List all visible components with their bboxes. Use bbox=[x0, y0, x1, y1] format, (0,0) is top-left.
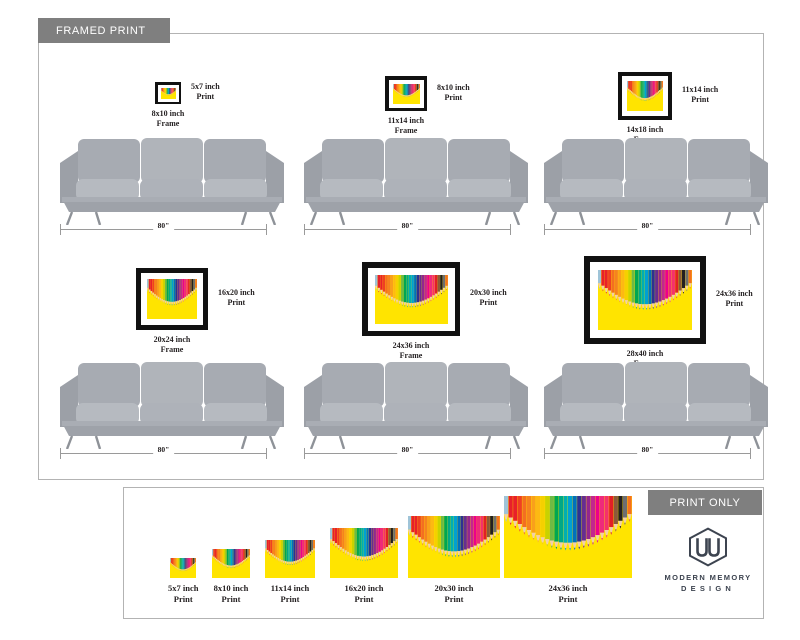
modern-memory-hexagon-icon bbox=[687, 527, 729, 567]
colored-pencils-artwork bbox=[393, 84, 420, 104]
frame-size-label: 8x10 inchFrame bbox=[128, 109, 208, 129]
sofa bbox=[540, 357, 770, 454]
sofa-dimension-label: 80" bbox=[637, 221, 659, 230]
print-size-label: 5x7 inchPrint bbox=[191, 82, 220, 102]
colored-pencils-artwork bbox=[212, 549, 250, 578]
sofa-illustration bbox=[540, 357, 770, 449]
print-only-size-label: 11x14 inchPrint bbox=[271, 583, 310, 604]
colored-pencils-artwork bbox=[265, 540, 315, 578]
print-size-label: 16x20 inchPrint bbox=[218, 288, 255, 308]
colored-pencils-artwork bbox=[161, 88, 176, 99]
frame-mat bbox=[389, 80, 424, 108]
print-only-item[interactable]: 11x14 inchPrint bbox=[265, 540, 315, 604]
print-only-item[interactable]: 8x10 inchPrint bbox=[212, 549, 250, 604]
sofa bbox=[300, 357, 530, 454]
colored-pencils-artwork bbox=[170, 558, 196, 578]
frame-size-label: 20x24 inchFrame bbox=[132, 335, 212, 355]
colored-pencils-artwork bbox=[627, 81, 663, 111]
colored-pencils-artwork bbox=[330, 528, 398, 578]
picture-frame bbox=[584, 256, 706, 344]
print-only-item[interactable]: 20x30 inchPrint bbox=[408, 516, 500, 604]
sofa-dimension-label: 80" bbox=[397, 221, 419, 230]
sofa-dimension-line: 80" bbox=[60, 446, 267, 460]
sofa-illustration bbox=[300, 133, 530, 225]
sofa-dimension-line: 80" bbox=[544, 222, 751, 236]
picture-frame bbox=[618, 72, 672, 120]
print-size-label: 20x30 inchPrint bbox=[470, 288, 507, 308]
sofa bbox=[300, 133, 530, 230]
colored-pencils-artwork bbox=[408, 516, 500, 578]
print-only-size-label: 20x30 inchPrint bbox=[435, 583, 474, 604]
picture-frame bbox=[155, 82, 181, 104]
sofa-dimension-line: 80" bbox=[304, 222, 511, 236]
colored-pencils-artwork bbox=[375, 275, 448, 324]
print-only-size-label: 5x7 inchPrint bbox=[168, 583, 198, 604]
sofa-dimension-label: 80" bbox=[397, 445, 419, 454]
sofa-illustration bbox=[540, 133, 770, 225]
picture-frame bbox=[136, 268, 208, 330]
brand-name-line2: DESIGN bbox=[681, 584, 735, 593]
sofa-dimension-label: 80" bbox=[153, 445, 175, 454]
frame-mat bbox=[141, 273, 203, 325]
sofa-dimension-line: 80" bbox=[304, 446, 511, 460]
print-size-label: 11x14 inchPrint bbox=[682, 85, 718, 105]
sofa-illustration bbox=[300, 357, 530, 449]
print-only-size-label: 8x10 inchPrint bbox=[214, 583, 249, 604]
picture-frame bbox=[362, 262, 460, 336]
sofa bbox=[56, 357, 286, 454]
brand-logo: MODERN MEMORY DESIGN bbox=[660, 527, 756, 593]
colored-pencils-artwork bbox=[504, 496, 632, 578]
picture-frame bbox=[385, 76, 427, 111]
sofa bbox=[56, 133, 286, 230]
sofa-illustration bbox=[56, 357, 286, 449]
print-size-label: 8x10 inchPrint bbox=[437, 83, 470, 103]
sofa-illustration bbox=[56, 133, 286, 225]
print-only-item[interactable]: 16x20 inchPrint bbox=[330, 528, 398, 604]
sofa-dimension-line: 80" bbox=[544, 446, 751, 460]
print-size-label: 24x36 inchPrint bbox=[716, 289, 753, 309]
print-only-size-label: 24x36 inchPrint bbox=[549, 583, 588, 604]
print-only-item[interactable]: 5x7 inchPrint bbox=[168, 558, 198, 604]
framed-print-tab: FRAMED PRINT bbox=[38, 18, 170, 43]
print-only-tab-label: PRINT ONLY bbox=[670, 497, 741, 509]
frame-mat bbox=[368, 268, 455, 331]
frame-mat bbox=[158, 85, 179, 102]
print-only-item[interactable]: 24x36 inchPrint bbox=[504, 496, 632, 604]
frame-mat bbox=[622, 76, 668, 116]
frame-mat bbox=[590, 262, 700, 338]
colored-pencils-artwork bbox=[598, 270, 692, 330]
print-only-tab: PRINT ONLY bbox=[648, 490, 762, 515]
framed-print-tab-label: FRAMED PRINT bbox=[56, 25, 146, 37]
sofa-dimension-label: 80" bbox=[153, 221, 175, 230]
brand-name-line1: MODERN MEMORY bbox=[664, 573, 751, 582]
sofa bbox=[540, 133, 770, 230]
sofa-dimension-label: 80" bbox=[637, 445, 659, 454]
colored-pencils-artwork bbox=[147, 279, 197, 319]
sofa-dimension-line: 80" bbox=[60, 222, 267, 236]
print-only-size-label: 16x20 inchPrint bbox=[345, 583, 384, 604]
